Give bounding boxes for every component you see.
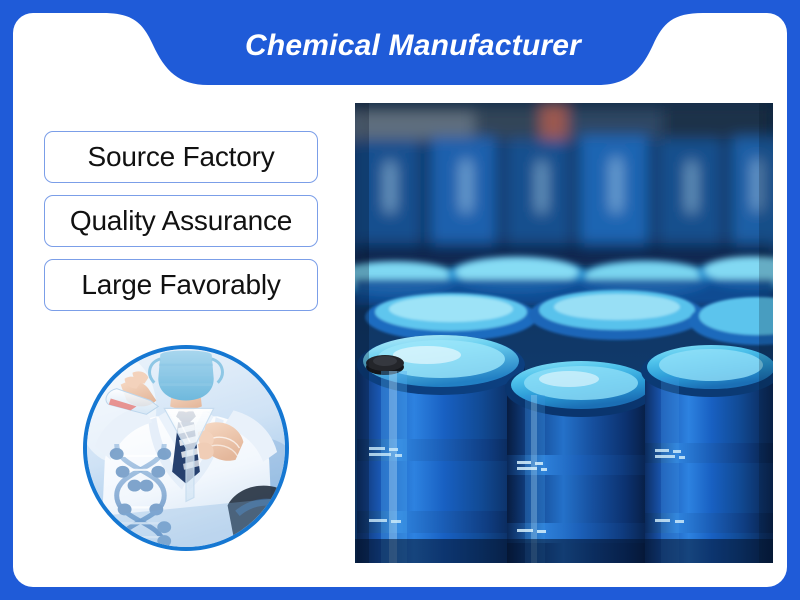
feature-badge-large-favorably[interactable]: Large Favorably [44, 259, 318, 311]
feature-badge-label: Source Factory [87, 143, 274, 171]
blue-chemical-drums-photo [355, 103, 773, 563]
feature-badge-label: Quality Assurance [70, 207, 292, 235]
lab-scientist-circle-photo [83, 345, 289, 551]
feature-badge-source-factory[interactable]: Source Factory [44, 131, 318, 183]
feature-badge-quality-assurance[interactable]: Quality Assurance [44, 195, 318, 247]
feature-badge-list: Source Factory Quality Assurance Large F… [44, 131, 318, 323]
feature-badge-label: Large Favorably [81, 271, 280, 299]
poster-root: Chemical Manufacturer Source Factory Qua… [0, 0, 800, 600]
poster-page: Chemical Manufacturer Source Factory Qua… [13, 13, 787, 587]
page-title: Chemical Manufacturer [13, 29, 787, 63]
